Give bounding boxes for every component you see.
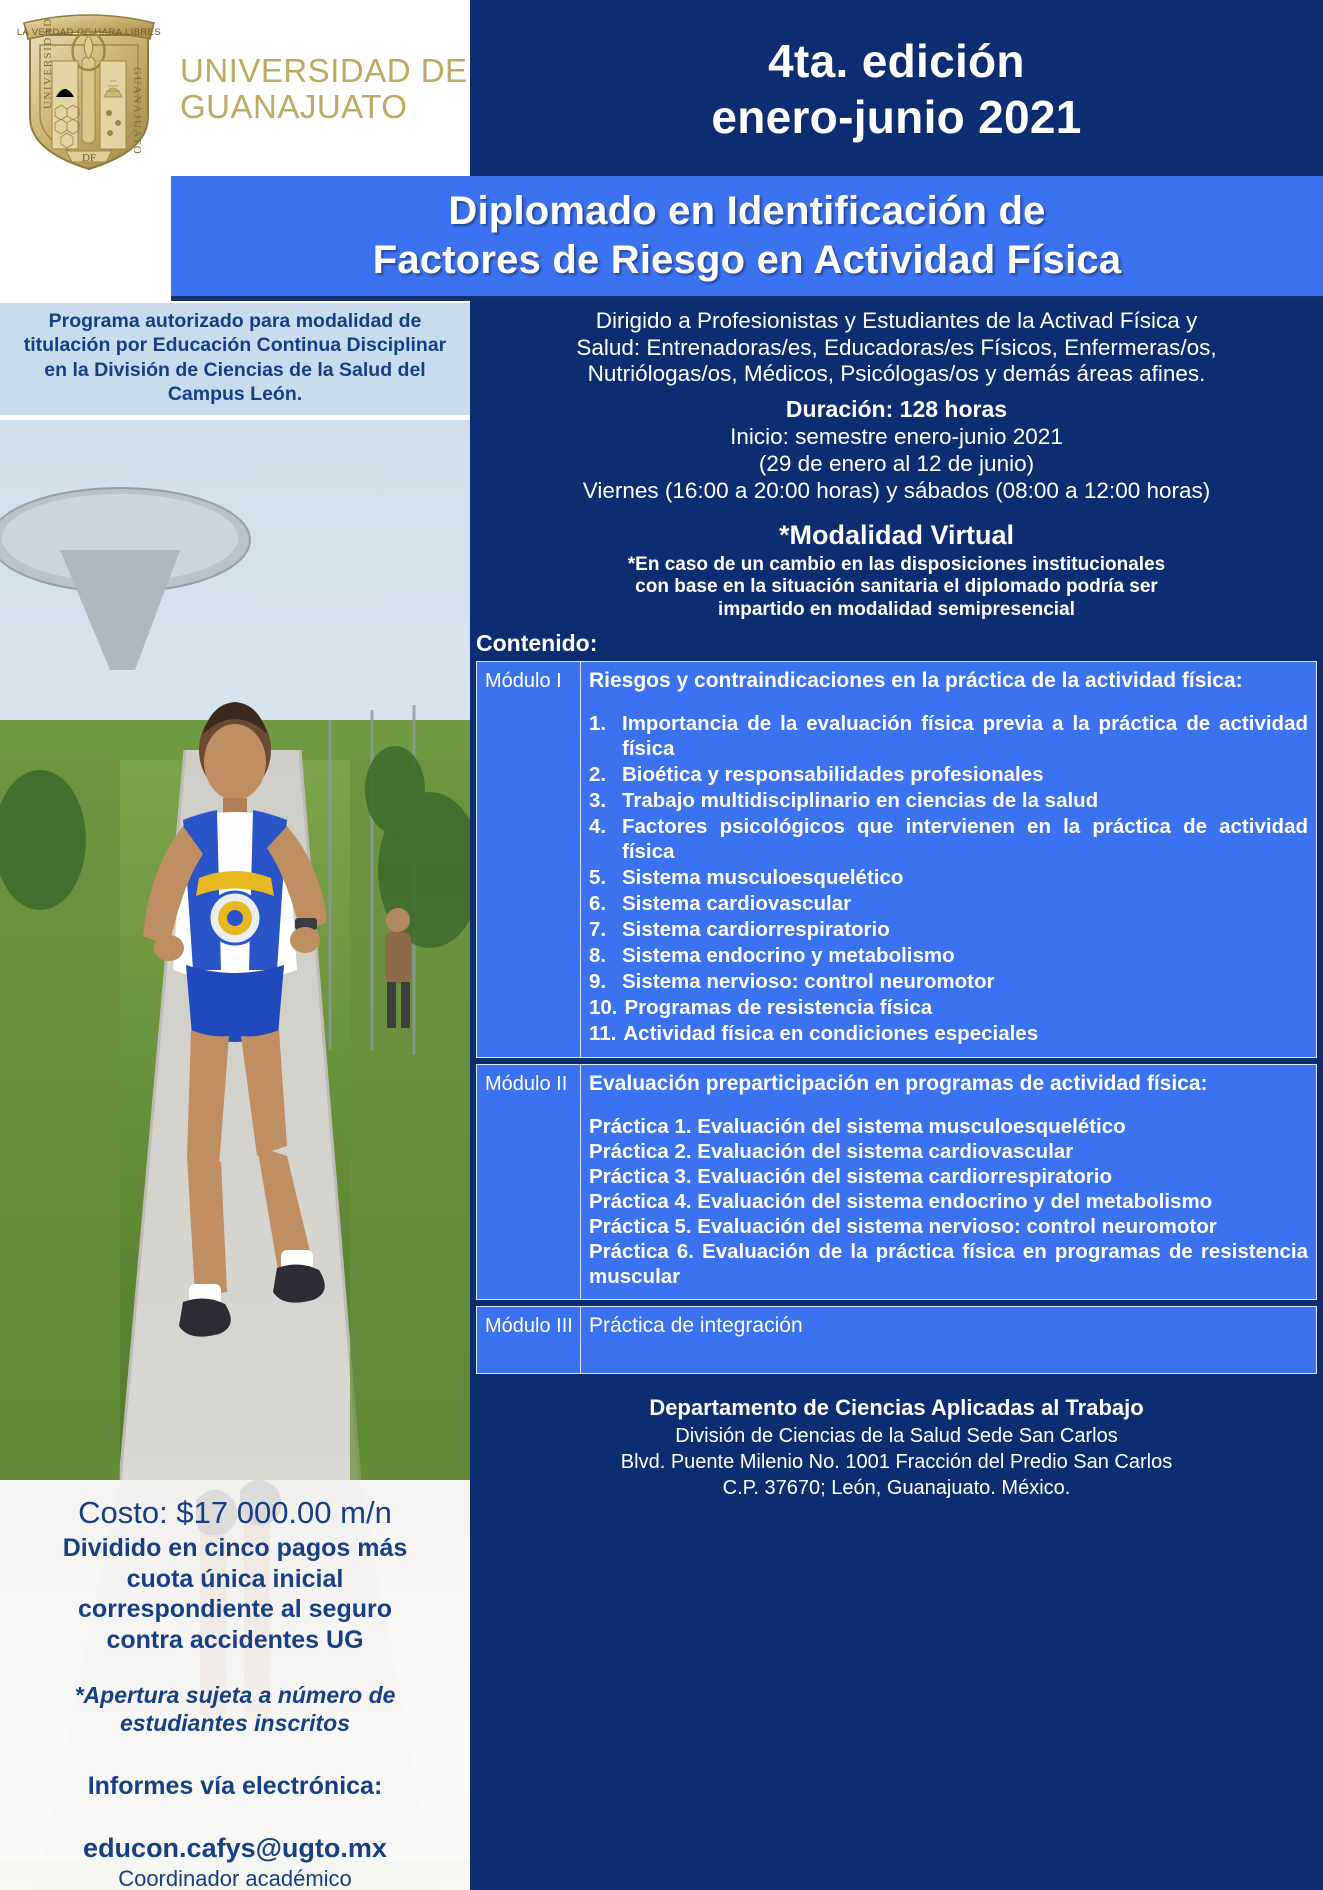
- cost-amount: Costo: $17 000.00 m/n: [16, 1494, 454, 1531]
- university-name-line1: UNIVERSIDAD DE: [180, 53, 468, 89]
- cost-text-group: Costo: $17 000.00 m/n Dividido en cinco …: [0, 1480, 470, 1890]
- topic-number: 9.: [589, 969, 615, 994]
- list-item: 2. Bioética y responsabilidades profesio…: [589, 762, 1308, 787]
- practice-item: Práctica 1. Evaluación del sistema muscu…: [589, 1114, 1308, 1139]
- module-1-heading: Riesgos y contraindicaciones en la práct…: [589, 668, 1308, 693]
- topic-text: Sistema endocrino y metabolismo: [622, 943, 1308, 968]
- duration-value: Duración: 128 horas: [476, 396, 1317, 423]
- left-column: Programa autorizado para modalidad de ti…: [0, 178, 470, 1890]
- coordinator-role: Coordinador académico: [16, 1865, 454, 1890]
- svg-text:DF: DF: [82, 152, 96, 164]
- top-bar: LA VERDAD OS HARA LIBRES: [0, 0, 1323, 178]
- module-row-2: Módulo II Evaluación preparticipación en…: [476, 1064, 1317, 1300]
- modality-disclaimer-line-1: *En caso de un cambio en las disposicion…: [476, 554, 1317, 577]
- audience-description: Dirigido a Profesionistas y Estudiantes …: [470, 296, 1323, 622]
- practice-item: Práctica 6. Evaluación de la práctica fí…: [589, 1239, 1308, 1289]
- course-title-line-2: Factores de Riesgo en Actividad Física: [373, 236, 1122, 285]
- university-logo-zone: LA VERDAD OS HARA LIBRES: [0, 0, 470, 178]
- practice-item: Práctica 2. Evaluación del sistema cardi…: [589, 1139, 1308, 1164]
- course-title-line-1: Diplomado en Identificación de: [448, 187, 1045, 236]
- poster-root: LA VERDAD OS HARA LIBRES: [0, 0, 1323, 1890]
- topic-text: Actividad física en condiciones especial…: [623, 1021, 1308, 1046]
- footer-contact: Departamento de Ciencias Aplicadas al Tr…: [470, 1380, 1323, 1511]
- start-semester: Inicio: semestre enero-junio 2021: [476, 423, 1317, 450]
- practice-item: Práctica 3. Evaluación del sistema cardi…: [589, 1164, 1308, 1189]
- topic-number: 6.: [589, 891, 615, 916]
- list-item: 4. Factores psicológicos que intervienen…: [589, 814, 1308, 864]
- footer-division: División de Ciencias de la Salud Sede Sa…: [480, 1423, 1313, 1449]
- list-item: 6. Sistema cardiovascular: [589, 891, 1308, 916]
- edition-line-2: enero-junio 2021: [711, 89, 1081, 145]
- runner-photo: [0, 420, 470, 1480]
- module-3-label: Módulo III: [477, 1307, 581, 1373]
- list-item: 11. Actividad física en condiciones espe…: [589, 1021, 1308, 1046]
- topic-text: Importancia de la evaluación física prev…: [622, 711, 1308, 761]
- cost-detail-line-4: contra accidentes UG: [16, 1625, 454, 1656]
- module-3-heading: Práctica de integración: [589, 1313, 1308, 1338]
- topic-number: 5.: [589, 865, 615, 890]
- audience-line-3: Nutriólogas/os, Médicos, Psicólogas/os y…: [476, 361, 1317, 388]
- program-authorization-note: Programa autorizado para modalidad de ti…: [0, 303, 470, 415]
- practice-item: Práctica 5. Evaluación del sistema nervi…: [589, 1214, 1308, 1239]
- topic-number: 7.: [589, 917, 615, 942]
- list-item: 10. Programas de resistencia física: [589, 995, 1308, 1020]
- university-name-line2: GUANAJUATO: [180, 89, 468, 125]
- list-item: 8. Sistema endocrino y metabolismo: [589, 943, 1308, 968]
- module-3-body: Práctica de integración: [581, 1307, 1316, 1373]
- course-title-banner: Diplomado en Identificación de Factores …: [171, 176, 1323, 296]
- enrollment-note-line-1: *Apertura sujeta a número de: [16, 1681, 454, 1709]
- module-1-label: Módulo I: [477, 662, 581, 1057]
- topic-number: 1.: [589, 711, 615, 761]
- topic-text: Programas de resistencia física: [625, 995, 1309, 1020]
- topic-text: Sistema nervioso: control neuromotor: [622, 969, 1308, 994]
- footer-address: Blvd. Puente Milenio No. 1001 Fracción d…: [480, 1449, 1313, 1475]
- modality-disclaimer-line-2: con base en la situación sanitaria el di…: [476, 576, 1317, 599]
- audience-line-2: Salud: Entrenadoras/es, Educadoras/es Fí…: [476, 335, 1317, 362]
- module-2-label: Módulo II: [477, 1065, 581, 1299]
- informes-label: Informes vía electrónica:: [16, 1771, 454, 1802]
- topic-text: Factores psicológicos que intervienen en…: [622, 814, 1308, 864]
- modules-table: Módulo I Riesgos y contraindicaciones en…: [470, 661, 1323, 1374]
- edition-banner: 4ta. edición enero-junio 2021: [470, 0, 1323, 178]
- modality-heading: *Modalidad Virtual: [476, 520, 1317, 552]
- list-item: 3. Trabajo multidisciplinario en ciencia…: [589, 788, 1308, 813]
- university-name: UNIVERSIDAD DE GUANAJUATO: [180, 53, 468, 124]
- footer-city: C.P. 37670; León, Guanajuato. México.: [480, 1475, 1313, 1501]
- module-1-topic-list: 1. Importancia de la evaluación física p…: [589, 711, 1308, 1046]
- svg-text:UNIVERSIDAD: UNIVERSIDAD: [42, 17, 54, 109]
- enrollment-note-line-2: estudiantes inscritos: [16, 1709, 454, 1737]
- module-row-1: Módulo I Riesgos y contraindicaciones en…: [476, 661, 1317, 1058]
- topic-number: 11.: [589, 1021, 616, 1046]
- cost-detail-line-1: Dividido en cinco pagos más: [16, 1533, 454, 1564]
- topic-text: Trabajo multidisciplinario en ciencias d…: [622, 788, 1308, 813]
- audience-line-1: Dirigido a Profesionistas y Estudiantes …: [476, 308, 1317, 335]
- module-1-body: Riesgos y contraindicaciones en la práct…: [581, 662, 1316, 1057]
- svg-text:GUANAJUATO: GUANAJUATO: [131, 67, 143, 155]
- module-2-body: Evaluación preparticipación en programas…: [581, 1065, 1316, 1299]
- topic-text: Sistema cardiorrespiratorio: [622, 917, 1308, 942]
- cost-and-contact-block: Costo: $17 000.00 m/n Dividido en cinco …: [0, 1480, 470, 1890]
- topic-number: 2.: [589, 762, 615, 787]
- topic-number: 4.: [589, 814, 615, 864]
- topic-number: 3.: [589, 788, 615, 813]
- list-item: 1. Importancia de la evaluación física p…: [589, 711, 1308, 761]
- edition-line-1: 4ta. edición: [768, 33, 1025, 89]
- contents-label: Contenido:: [470, 622, 1323, 661]
- list-item: 9. Sistema nervioso: control neuromotor: [589, 969, 1308, 994]
- practice-item: Práctica 4. Evaluación del sistema endoc…: [589, 1189, 1308, 1214]
- right-column: Dirigido a Profesionistas y Estudiantes …: [470, 296, 1323, 1890]
- modality-disclaimer-line-3: impartido en modalidad semipresencial: [476, 599, 1317, 622]
- module-2-heading: Evaluación preparticipación en programas…: [589, 1071, 1308, 1096]
- module-row-3: Módulo III Práctica de integración: [476, 1306, 1317, 1374]
- topic-text: Bioética y responsabilidades profesional…: [622, 762, 1308, 787]
- topic-number: 8.: [589, 943, 615, 968]
- weekly-schedule: Viernes (16:00 a 20:00 horas) y sábados …: [476, 477, 1317, 504]
- university-crest-icon: LA VERDAD OS HARA LIBRES: [14, 5, 164, 173]
- date-range: (29 de enero al 12 de junio): [476, 450, 1317, 477]
- topic-text: Sistema cardiovascular: [622, 891, 1308, 916]
- cost-detail-line-3: correspondiente al seguro: [16, 1594, 454, 1625]
- footer-department: Departamento de Ciencias Aplicadas al Tr…: [480, 1394, 1313, 1423]
- topic-number: 10.: [589, 995, 618, 1020]
- list-item: 7. Sistema cardiorrespiratorio: [589, 917, 1308, 942]
- contact-email[interactable]: educon.cafys@ugto.mx: [16, 1832, 454, 1865]
- list-item: 5. Sistema musculoesquelético: [589, 865, 1308, 890]
- topic-text: Sistema musculoesquelético: [622, 865, 1308, 890]
- cost-detail-line-2: cuota única inicial: [16, 1564, 454, 1595]
